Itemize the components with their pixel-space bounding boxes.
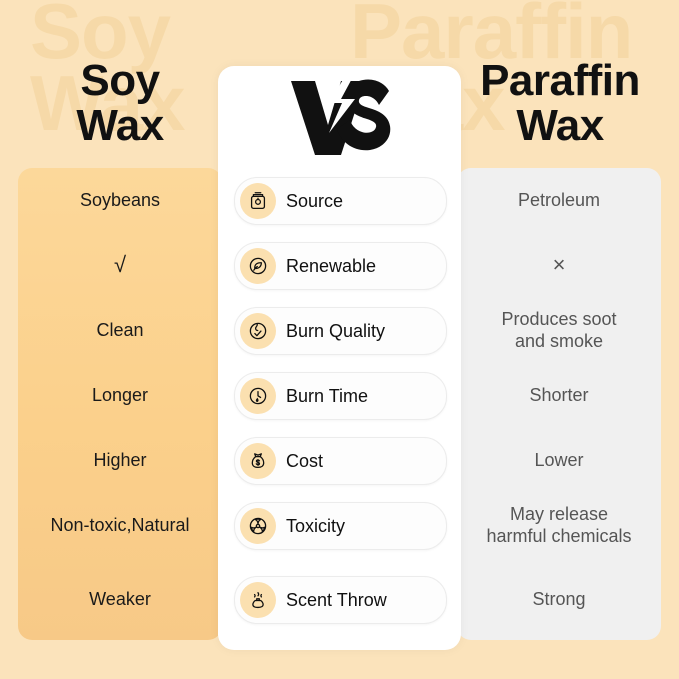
left-value-cell: Longer [18,358,222,432]
right-value-cell: Produces sootand smoke [457,293,661,367]
right-value-cell: Petroleum [457,163,661,237]
left-column-title: SoyWax [5,58,235,149]
feature-row[interactable]: Renewable [234,242,447,290]
right-value-cell: Shorter [457,358,661,432]
money-bag-icon [240,443,276,479]
scent-diffuser-icon [240,582,276,618]
feature-label: Burn Quality [286,321,385,342]
left-value-cell: √ [18,228,222,302]
left-value-cell: Weaker [18,562,222,636]
left-value-cell: Clean [18,293,222,367]
feature-label: Toxicity [286,516,345,537]
biohazard-icon [240,508,276,544]
vs-badge [218,70,461,162]
jar-icon [240,183,276,219]
feature-row[interactable]: Toxicity [234,502,447,550]
right-column-title: ParaffinWax [445,58,675,149]
right-value-cell: × [457,228,661,302]
feature-label: Cost [286,451,323,472]
flame-check-icon [240,313,276,349]
comparison-infographic: SoyWax ParaffinWax SoyWax ParaffinWax So… [0,0,679,679]
feature-label: Renewable [286,256,376,277]
feature-label: Scent Throw [286,590,387,611]
feature-row[interactable]: Burn Time [234,372,447,420]
feature-label: Source [286,191,343,212]
feature-row[interactable]: Cost [234,437,447,485]
right-value-cell: Lower [457,423,661,497]
left-value-cell: Non-toxic,Natural [18,488,222,562]
right-value-cell: May releaseharmful chemicals [457,488,661,562]
left-value-cell: Soybeans [18,163,222,237]
recycle-leaf-icon [240,248,276,284]
feature-row[interactable]: Burn Quality [234,307,447,355]
feature-row[interactable]: Scent Throw [234,576,447,624]
left-value-cell: Higher [18,423,222,497]
right-value-cell: Strong [457,562,661,636]
feature-label: Burn Time [286,386,368,407]
feature-row[interactable]: Source [234,177,447,225]
clock-flame-icon [240,378,276,414]
